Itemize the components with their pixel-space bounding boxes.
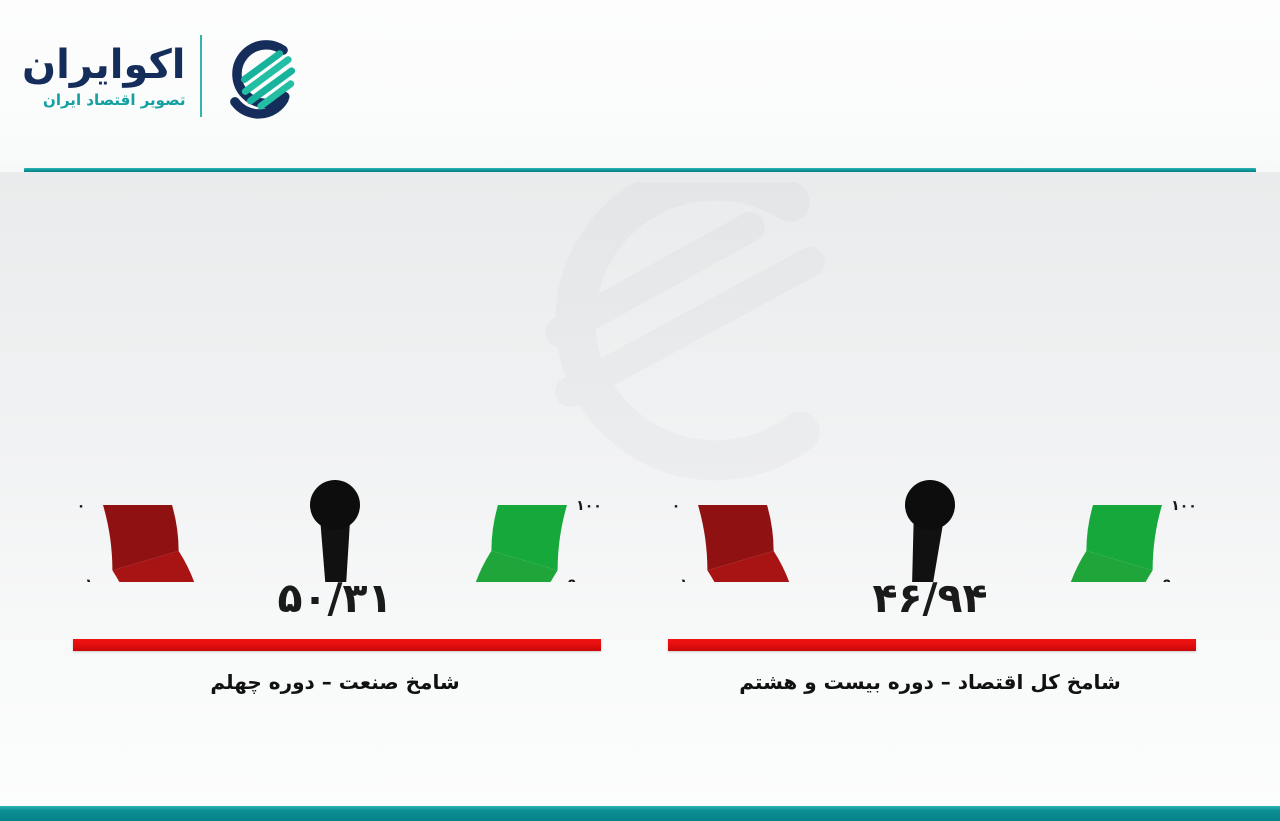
gauge-card-industry: ۰۱۰۲۰۳۰۴۰۵۰۶۰۷۰۸۰۹۰۱۰۰ ۵۰/۳۱ شامخ صنعت –… [35,192,635,752]
gauge-tick-label: ۱۰۰ [576,498,602,514]
logo-wordmark: اکوایران تصویر اقتصاد ایران [22,30,198,122]
gauge-needle [310,480,360,582]
gauge-needle [905,480,955,582]
gauge-whole-economy-svg: ۰۱۰۲۰۳۰۴۰۵۰۶۰۷۰۸۰۹۰۱۰۰ [630,222,1230,582]
ecoiran-circular-stripes-logo-icon [216,33,302,119]
gauge-underline-industry [73,639,601,651]
gauge-tick-label: ۱۰۰ [1171,498,1197,514]
gauge-caption-industry: شامخ صنعت – دوره چهلم [35,670,635,694]
gauge-industry-svg: ۰۱۰۲۰۳۰۴۰۵۰۶۰۷۰۸۰۹۰۱۰۰ [35,222,635,582]
gauge-caption-whole-economy: شامخ کل اقتصاد – دوره بیست و هشتم [630,670,1230,694]
gauge-hub [310,480,360,530]
logo-vertical-divider [200,35,202,117]
gauge-value-industry: ۵۰/۳۱ [35,574,635,622]
header: اکوایران تصویر اقتصاد ایران [0,0,1280,172]
footer-bar [0,806,1280,821]
infographic-page: اکوایران تصویر اقتصاد ایران [0,0,1280,821]
gauge-value-whole-economy: ۴۶/۹۴ [630,574,1230,622]
gauge-tick-label: ۰ [77,498,86,514]
brand-logo: اکوایران تصویر اقتصاد ایران [22,30,302,122]
chart-panel: ۰۱۰۲۰۳۰۴۰۵۰۶۰۷۰۸۰۹۰۱۰۰ ۵۰/۳۱ شامخ صنعت –… [0,172,1280,806]
gauge-row: ۰۱۰۲۰۳۰۴۰۵۰۶۰۷۰۸۰۹۰۱۰۰ ۵۰/۳۱ شامخ صنعت –… [0,172,1280,806]
gauge-hub [905,480,955,530]
gauge-tick-label: ۰ [672,498,681,514]
gauge-card-whole-economy: ۰۱۰۲۰۳۰۴۰۵۰۶۰۷۰۸۰۹۰۱۰۰ ۴۶/۹۴ شامخ کل اقت… [630,192,1230,752]
gauge-underline-whole-economy [668,639,1196,651]
logo-tagline: تصویر اقتصاد ایران [43,91,185,109]
logo-name: اکوایران [22,44,186,86]
